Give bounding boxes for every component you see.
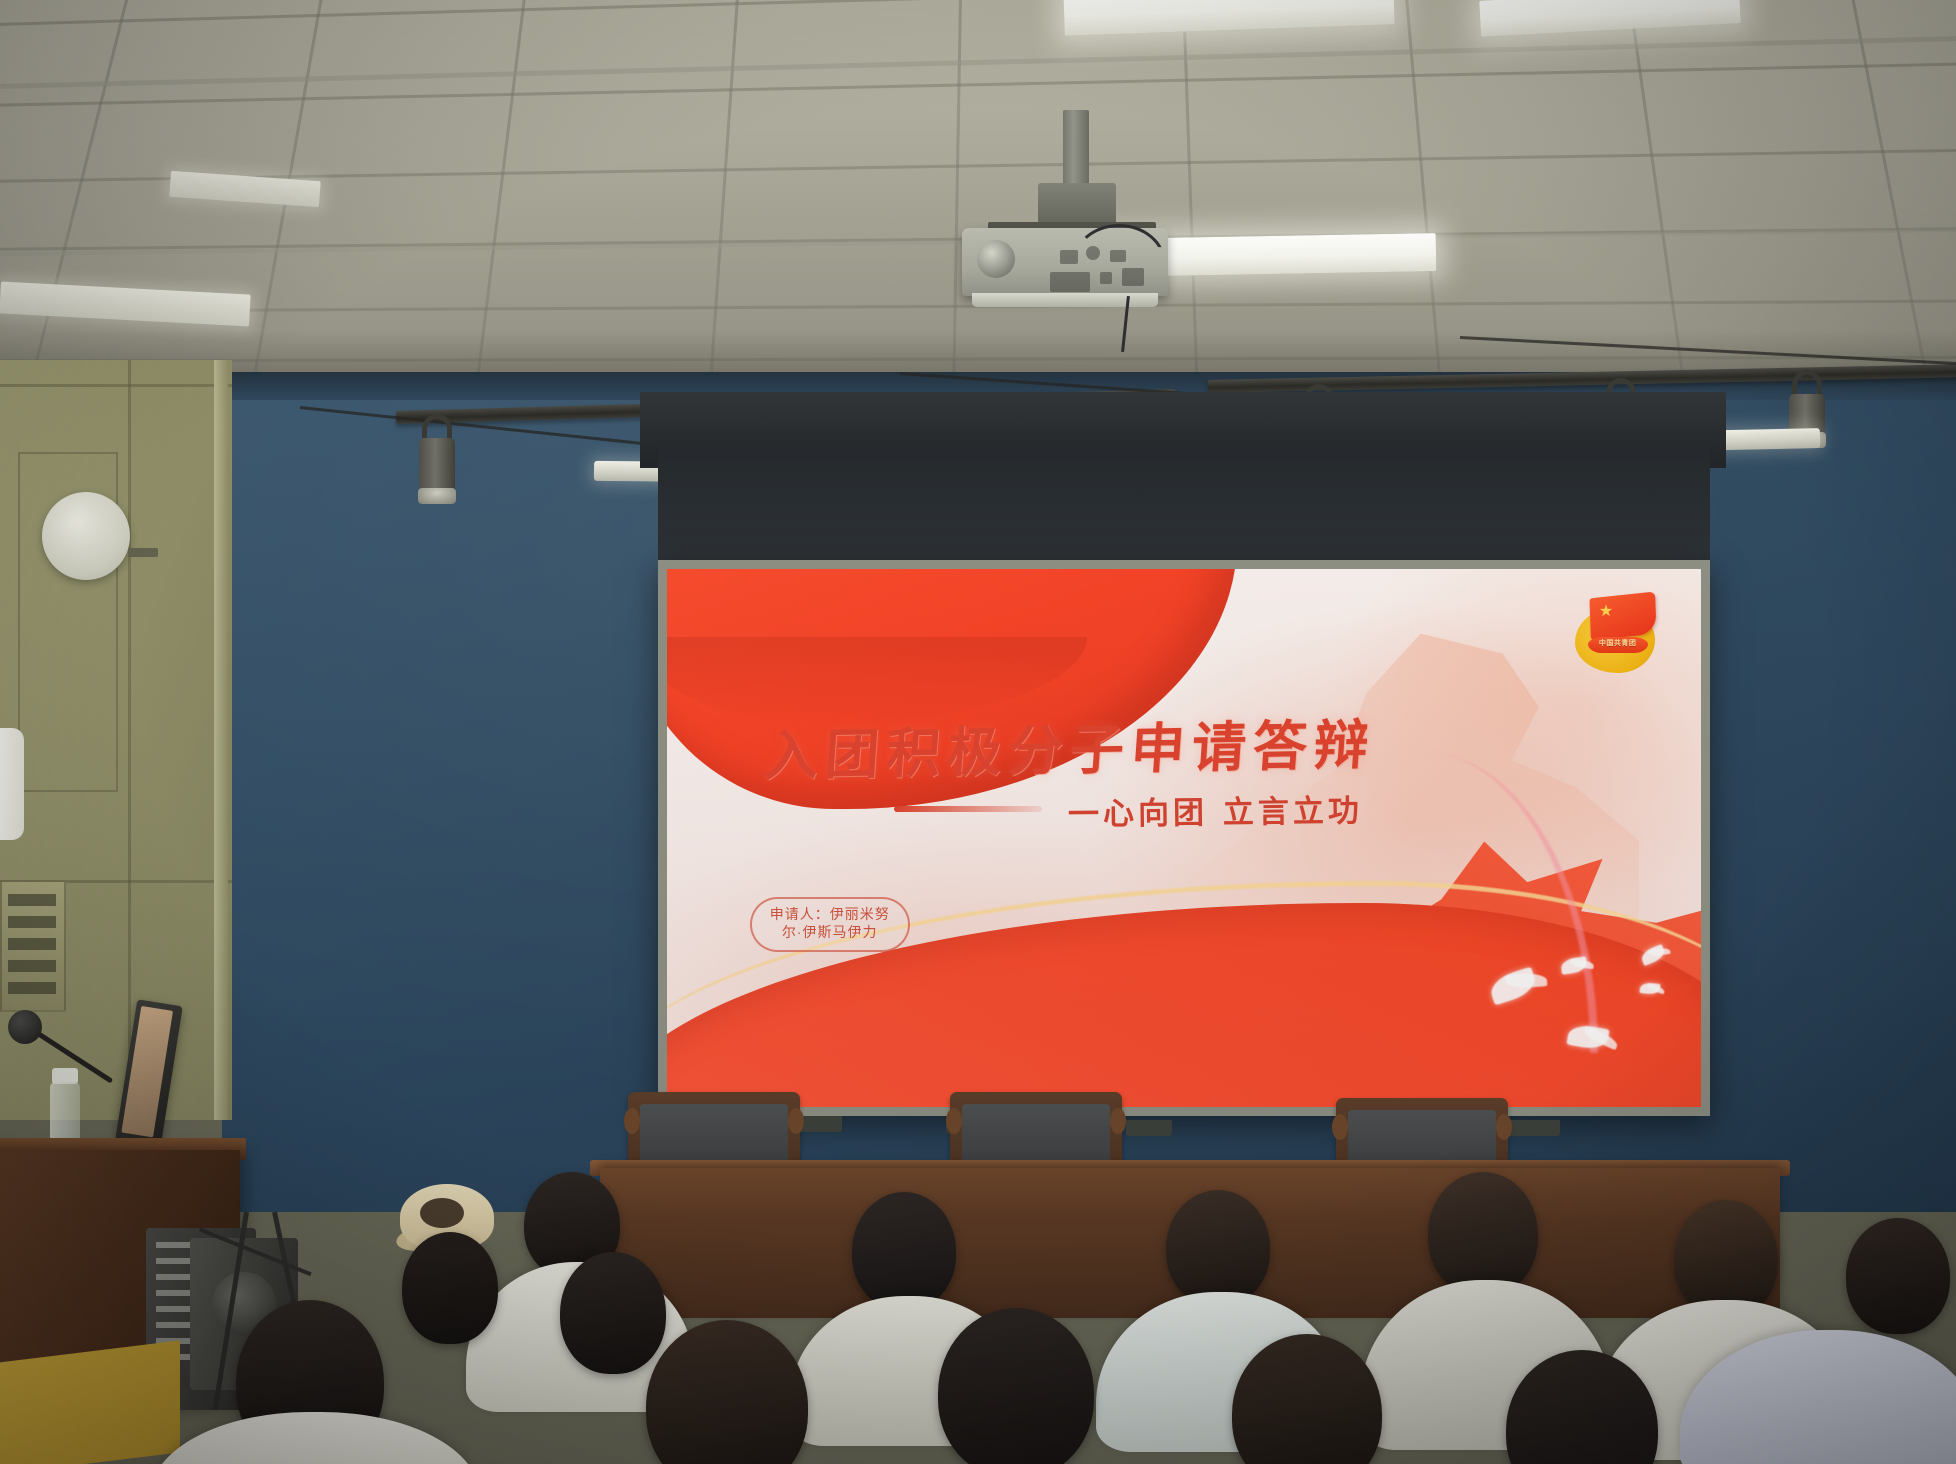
projector-lens-icon — [977, 240, 1015, 278]
slide-title: 入团积极分子申请答辩 — [762, 700, 1378, 791]
projector-foot — [972, 293, 1158, 307]
projector-mount-pole — [1063, 110, 1089, 188]
screen-bottom-tab — [1126, 1120, 1172, 1136]
subtitle-rule — [894, 806, 1042, 812]
wall-clock-bracket — [128, 548, 158, 557]
projection-screen[interactable]: ★ 中国共青团 入团积极分子申请答辩 一心向团 立言立功 申请人：伊丽米努 尔·… — [658, 560, 1710, 1116]
wall-corner-trim — [214, 360, 228, 1120]
applicant-badge: 申请人：伊丽米努 尔·伊斯马伊力 — [750, 897, 910, 952]
slide-subtitle: 一心向团 立言立功 — [1068, 785, 1363, 834]
audience-head — [560, 1252, 666, 1374]
ceiling-light-panel — [1479, 0, 1741, 37]
star-icon: ★ — [1598, 603, 1615, 620]
wall-clock — [42, 492, 130, 580]
cap-opening — [420, 1198, 464, 1228]
audience-head — [1846, 1218, 1950, 1334]
lecture-hall-scene: ★ 中国共青团 入团积极分子申请答辩 一心向团 立言立功 申请人：伊丽米努 尔·… — [0, 0, 1956, 1464]
youth-league-emblem: ★ 中国共青团 — [1572, 593, 1658, 679]
audience-head — [1166, 1190, 1270, 1306]
audience-head — [1428, 1172, 1538, 1296]
audience-shoulders — [150, 1412, 480, 1464]
slide-subtitle-group: 一心向团 立言立功 — [894, 787, 1363, 832]
audience-head — [938, 1308, 1094, 1464]
ceiling-light-panel — [1063, 0, 1394, 36]
stage-step — [0, 1340, 180, 1464]
applicant-line-1: 申请人：伊丽米努 — [770, 906, 890, 924]
audience-head — [402, 1232, 498, 1344]
applicant-line-2: 尔·伊斯马伊力 — [770, 924, 890, 942]
emblem-banner-text: 中国共青团 — [1588, 637, 1648, 653]
ceiling-light-panel — [0, 281, 251, 326]
presentation-slide[interactable]: ★ 中国共青团 入团积极分子申请答辩 一心向团 立言立功 申请人：伊丽米努 尔·… — [667, 569, 1701, 1107]
microphone-icon[interactable] — [8, 1010, 42, 1044]
wall-vent-grille — [0, 880, 66, 1012]
audience-head — [852, 1192, 956, 1310]
projector-mount-plate — [1038, 183, 1116, 225]
screen-drop-fabric — [658, 440, 1710, 566]
wall-box — [0, 728, 24, 840]
